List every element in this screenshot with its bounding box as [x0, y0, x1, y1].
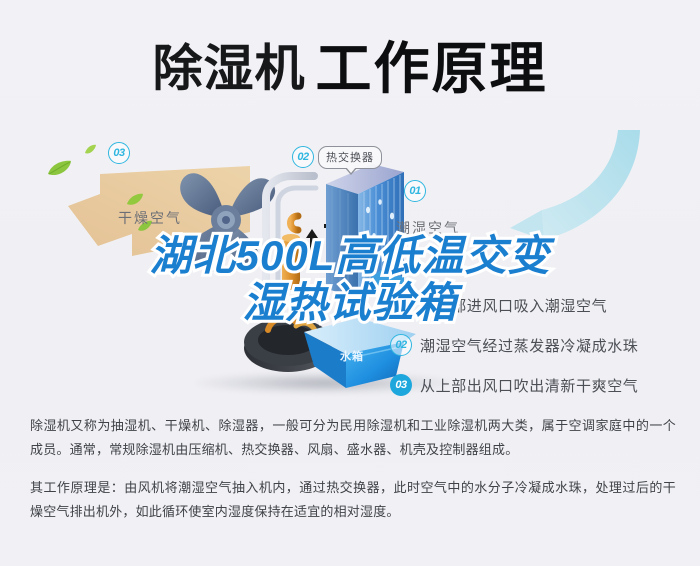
moist-air-label: 潮湿空气 [396, 218, 460, 238]
water-tank-label: 水箱 [340, 348, 364, 364]
step-badge-03: 03 [390, 374, 412, 396]
dehumidifier-diagram: 水箱 03 干燥空气 01 潮湿空气 02 热交换器 01 由下部进风口吸入潮湿… [0, 120, 700, 400]
step-item-01: 01 由下部进风口吸入潮湿空气 [390, 290, 690, 320]
step-text-02: 潮湿空气经过蒸发器冷凝成水珠 [420, 335, 638, 356]
body-paragraph-2: 其工作原理是：由风机将潮湿空气抽入机内，通过热交换器，此时空气中的水分子冷凝成水… [30, 476, 676, 524]
body-paragraph-1: 除湿机又称为抽湿机、干燥机、除湿器，一般可分为民用除湿机和工业除湿机两大类，属于… [30, 414, 676, 462]
step-text-01: 由下部进风口吸入潮湿空气 [420, 295, 607, 316]
leaf-icon [46, 160, 72, 183]
page-title-part1: 除湿机 [153, 41, 306, 97]
page-title: 除湿机工作原理 [0, 24, 700, 105]
heat-exchanger-callout: 热交换器 [318, 146, 382, 169]
badge-heat-exchanger: 02 [292, 146, 314, 168]
step-list: 01 由下部进风口吸入潮湿空气 02 潮湿空气经过蒸发器冷凝成水珠 03 从上部… [390, 290, 690, 410]
step-item-02: 02 潮湿空气经过蒸发器冷凝成水珠 [390, 330, 690, 360]
step-text-03: 从上部出风口吹出清新干爽空气 [420, 375, 638, 396]
badge-dry-air: 03 [108, 142, 130, 164]
step-badge-02: 02 [390, 334, 412, 356]
step-badge-01: 01 [390, 294, 412, 316]
dry-air-label: 干燥空气 [118, 208, 182, 228]
step-item-03: 03 从上部出风口吹出清新干爽空气 [390, 370, 690, 400]
badge-moist-air: 01 [404, 180, 426, 202]
infographic-page: 除湿机工作原理 [0, 0, 700, 566]
page-title-part2: 工作原理 [316, 37, 548, 100]
leaf-icon [84, 142, 97, 160]
body-copy: 除湿机又称为抽湿机、干燥机、除湿器，一般可分为民用除湿机和工业除湿机两大类，属于… [30, 414, 676, 524]
